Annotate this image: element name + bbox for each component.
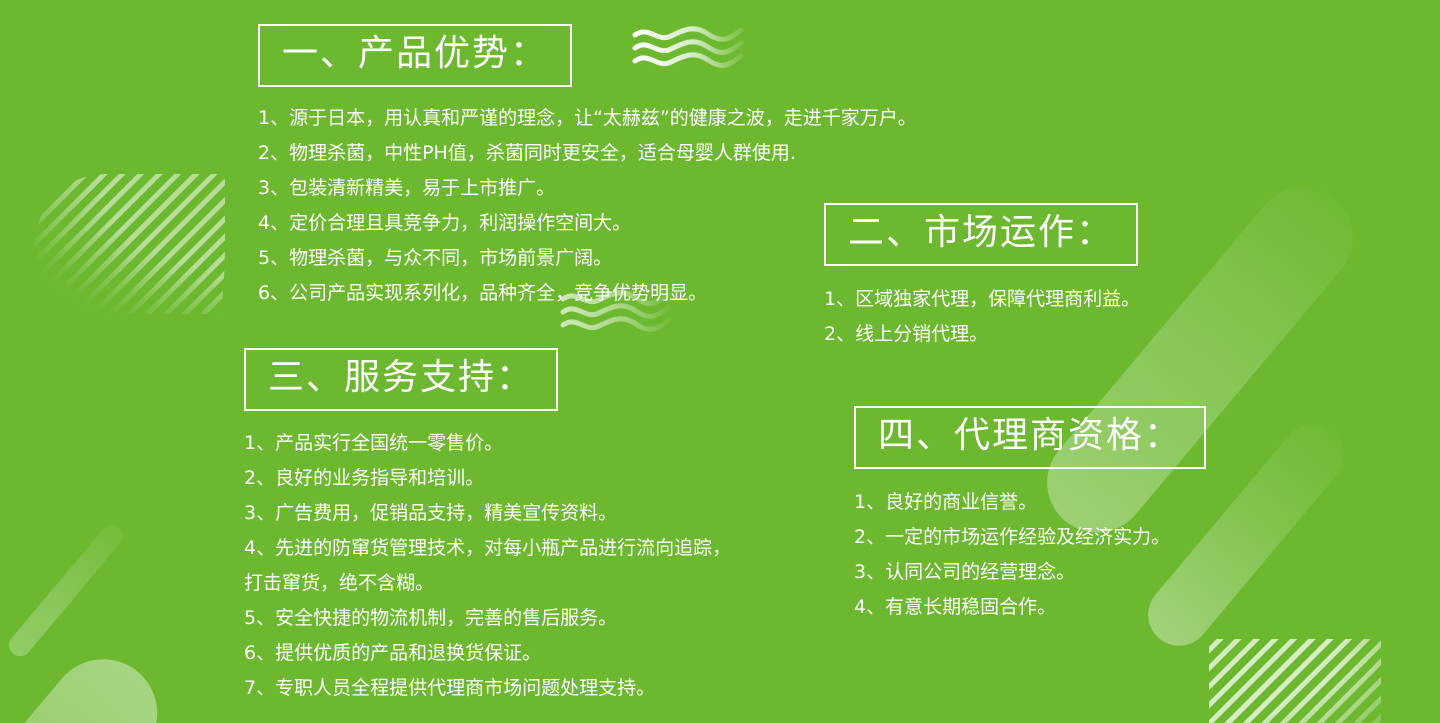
list-item: 2、线上分销代理。	[824, 325, 1140, 344]
list-item: 2、物理杀菌，中性PH值，杀菌同时更安全，适合母婴人群使用.	[258, 144, 917, 163]
list-item: 2、良好的业务指导和培训。	[244, 469, 731, 488]
section-agent-qualification: 四、代理商资格： 1、良好的商业信誉。 2、一定的市场运作经验及经济实力。 3、…	[854, 406, 1206, 633]
section-list-service-support: 1、产品实行全国统一零售价。 2、良好的业务指导和培训。 3、广告费用，促销品支…	[244, 434, 731, 698]
section-title-box-market-operation: 二、市场运作：	[824, 203, 1138, 266]
poster-canvas: 一、产品优势： 1、源于日本，用认真和严谨的理念，让“太赫兹”的健康之波，走进千…	[0, 0, 1440, 723]
list-item: 6、提供优质的产品和退换货保证。	[244, 644, 731, 663]
list-item: 4、先进的防窜货管理技术，对每小瓶产品进行流向追踪，	[244, 539, 731, 558]
list-item: 5、物理杀菌，与众不同，市场前景广阔。	[258, 249, 917, 268]
section-service-support: 三、服务支持： 1、产品实行全国统一零售价。 2、良好的业务指导和培训。 3、广…	[244, 348, 731, 714]
section-title-product-advantages: 一、产品优势：	[282, 35, 548, 73]
content-layer: 一、产品优势： 1、源于日本，用认真和严谨的理念，让“太赫兹”的健康之波，走进千…	[0, 0, 1440, 723]
section-list-product-advantages: 1、源于日本，用认真和严谨的理念，让“太赫兹”的健康之波，走进千家万户。 2、物…	[258, 109, 917, 303]
section-list-agent-qualification: 1、良好的商业信誉。 2、一定的市场运作经验及经济实力。 3、认同公司的经营理念…	[854, 493, 1206, 617]
list-item: 6、公司产品实现系列化，品种齐全，竞争优势明显。	[258, 284, 917, 303]
section-title-box-agent-qualification: 四、代理商资格：	[854, 406, 1206, 469]
list-item: 4、有意长期稳固合作。	[854, 598, 1206, 617]
section-title-box-service-support: 三、服务支持：	[244, 348, 558, 411]
list-item: 3、认同公司的经营理念。	[854, 563, 1206, 582]
list-item: 2、一定的市场运作经验及经济实力。	[854, 528, 1206, 547]
section-list-market-operation: 1、区域独家代理，保障代理商利益。 2、线上分销代理。	[824, 290, 1140, 344]
section-title-box-product-advantages: 一、产品优势：	[258, 24, 572, 87]
section-market-operation: 二、市场运作： 1、区域独家代理，保障代理商利益。 2、线上分销代理。	[824, 203, 1140, 360]
list-item: 3、广告费用，促销品支持，精美宣传资料。	[244, 504, 731, 523]
list-item: 1、良好的商业信誉。	[854, 493, 1206, 512]
list-item-continuation: 打击窜货，绝不含糊。	[244, 574, 731, 593]
section-title-agent-qualification: 四、代理商资格：	[878, 417, 1182, 455]
list-item: 3、包装清新精美，易于上市推广。	[258, 179, 917, 198]
list-item: 4、定价合理且具竞争力，利润操作空间大。	[258, 214, 917, 233]
list-item: 1、产品实行全国统一零售价。	[244, 434, 731, 453]
list-item: 5、安全快捷的物流机制，完善的售后服务。	[244, 609, 731, 628]
section-title-market-operation: 二、市场运作：	[848, 214, 1114, 252]
list-item: 1、区域独家代理，保障代理商利益。	[824, 290, 1140, 309]
section-title-service-support: 三、服务支持：	[268, 359, 534, 397]
list-item: 1、源于日本，用认真和严谨的理念，让“太赫兹”的健康之波，走进千家万户。	[258, 109, 917, 128]
list-item: 7、专职人员全程提供代理商市场问题处理支持。	[244, 679, 731, 698]
section-product-advantages: 一、产品优势： 1、源于日本，用认真和严谨的理念，让“太赫兹”的健康之波，走进千…	[258, 24, 917, 319]
